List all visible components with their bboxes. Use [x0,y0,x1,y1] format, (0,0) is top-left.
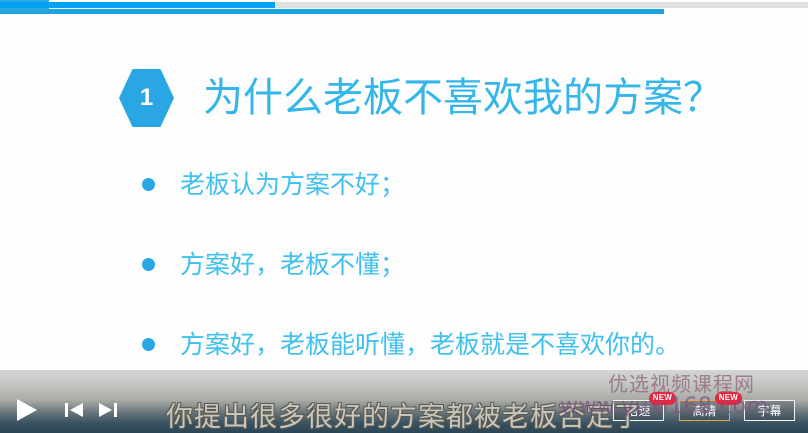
play-button[interactable] [9,394,43,426]
bullet-text: 方案好，老板不懂； [180,252,405,277]
presentation-slide: 1 为什么老板不喜欢我的方案？ 老板认为方案不好； 方案好，老板不懂； 方案好，… [0,0,808,370]
bullet-dot-icon [142,258,155,271]
quality-hd-button[interactable]: 高清 NEW [679,400,730,421]
new-badge: NEW [715,392,742,405]
list-item: 方案好，老板不懂； [142,224,782,304]
next-icon [97,401,119,419]
quality-hd-label: 高清 [692,402,716,419]
top-accent-rule [49,9,664,14]
previous-button[interactable] [62,398,86,422]
slide-heading-row: 1 为什么老板不喜欢我的方案？ [118,68,723,128]
hexagon-badge: 1 [118,68,175,128]
progress-bar-fill [0,2,275,8]
subtitle-toggle-label: 字幕 [757,402,781,419]
page-title: 为什么老板不喜欢我的方案？ [203,78,723,118]
bullet-dot-icon [142,178,155,191]
playback-speed-button[interactable]: 倍速 NEW [613,400,664,421]
progress-bar-track[interactable] [0,2,808,8]
next-button[interactable] [96,398,120,422]
list-item: 老板认为方案不好； [142,144,782,224]
bullet-list: 老板认为方案不好； 方案好，老板不懂； 方案好，老板能听懂，老板就是不喜欢你的。 [142,144,782,370]
bullet-dot-icon [142,338,155,351]
bullet-text: 方案好，老板能听懂，老板就是不喜欢你的。 [180,332,680,357]
hexagon-badge-number: 1 [140,86,153,110]
new-badge: NEW [649,392,676,405]
video-player-screen: 1 为什么老板不喜欢我的方案？ 老板认为方案不好； 方案好，老板不懂； 方案好，… [0,0,808,433]
list-item: 方案好，老板能听懂，老板就是不喜欢你的。 [142,304,782,370]
bullet-text: 老板认为方案不好； [180,172,405,197]
playback-speed-label: 倍速 [626,402,650,419]
previous-icon [63,401,85,419]
play-icon [11,395,41,425]
subtitle-toggle-button[interactable]: 字幕 [744,400,795,421]
